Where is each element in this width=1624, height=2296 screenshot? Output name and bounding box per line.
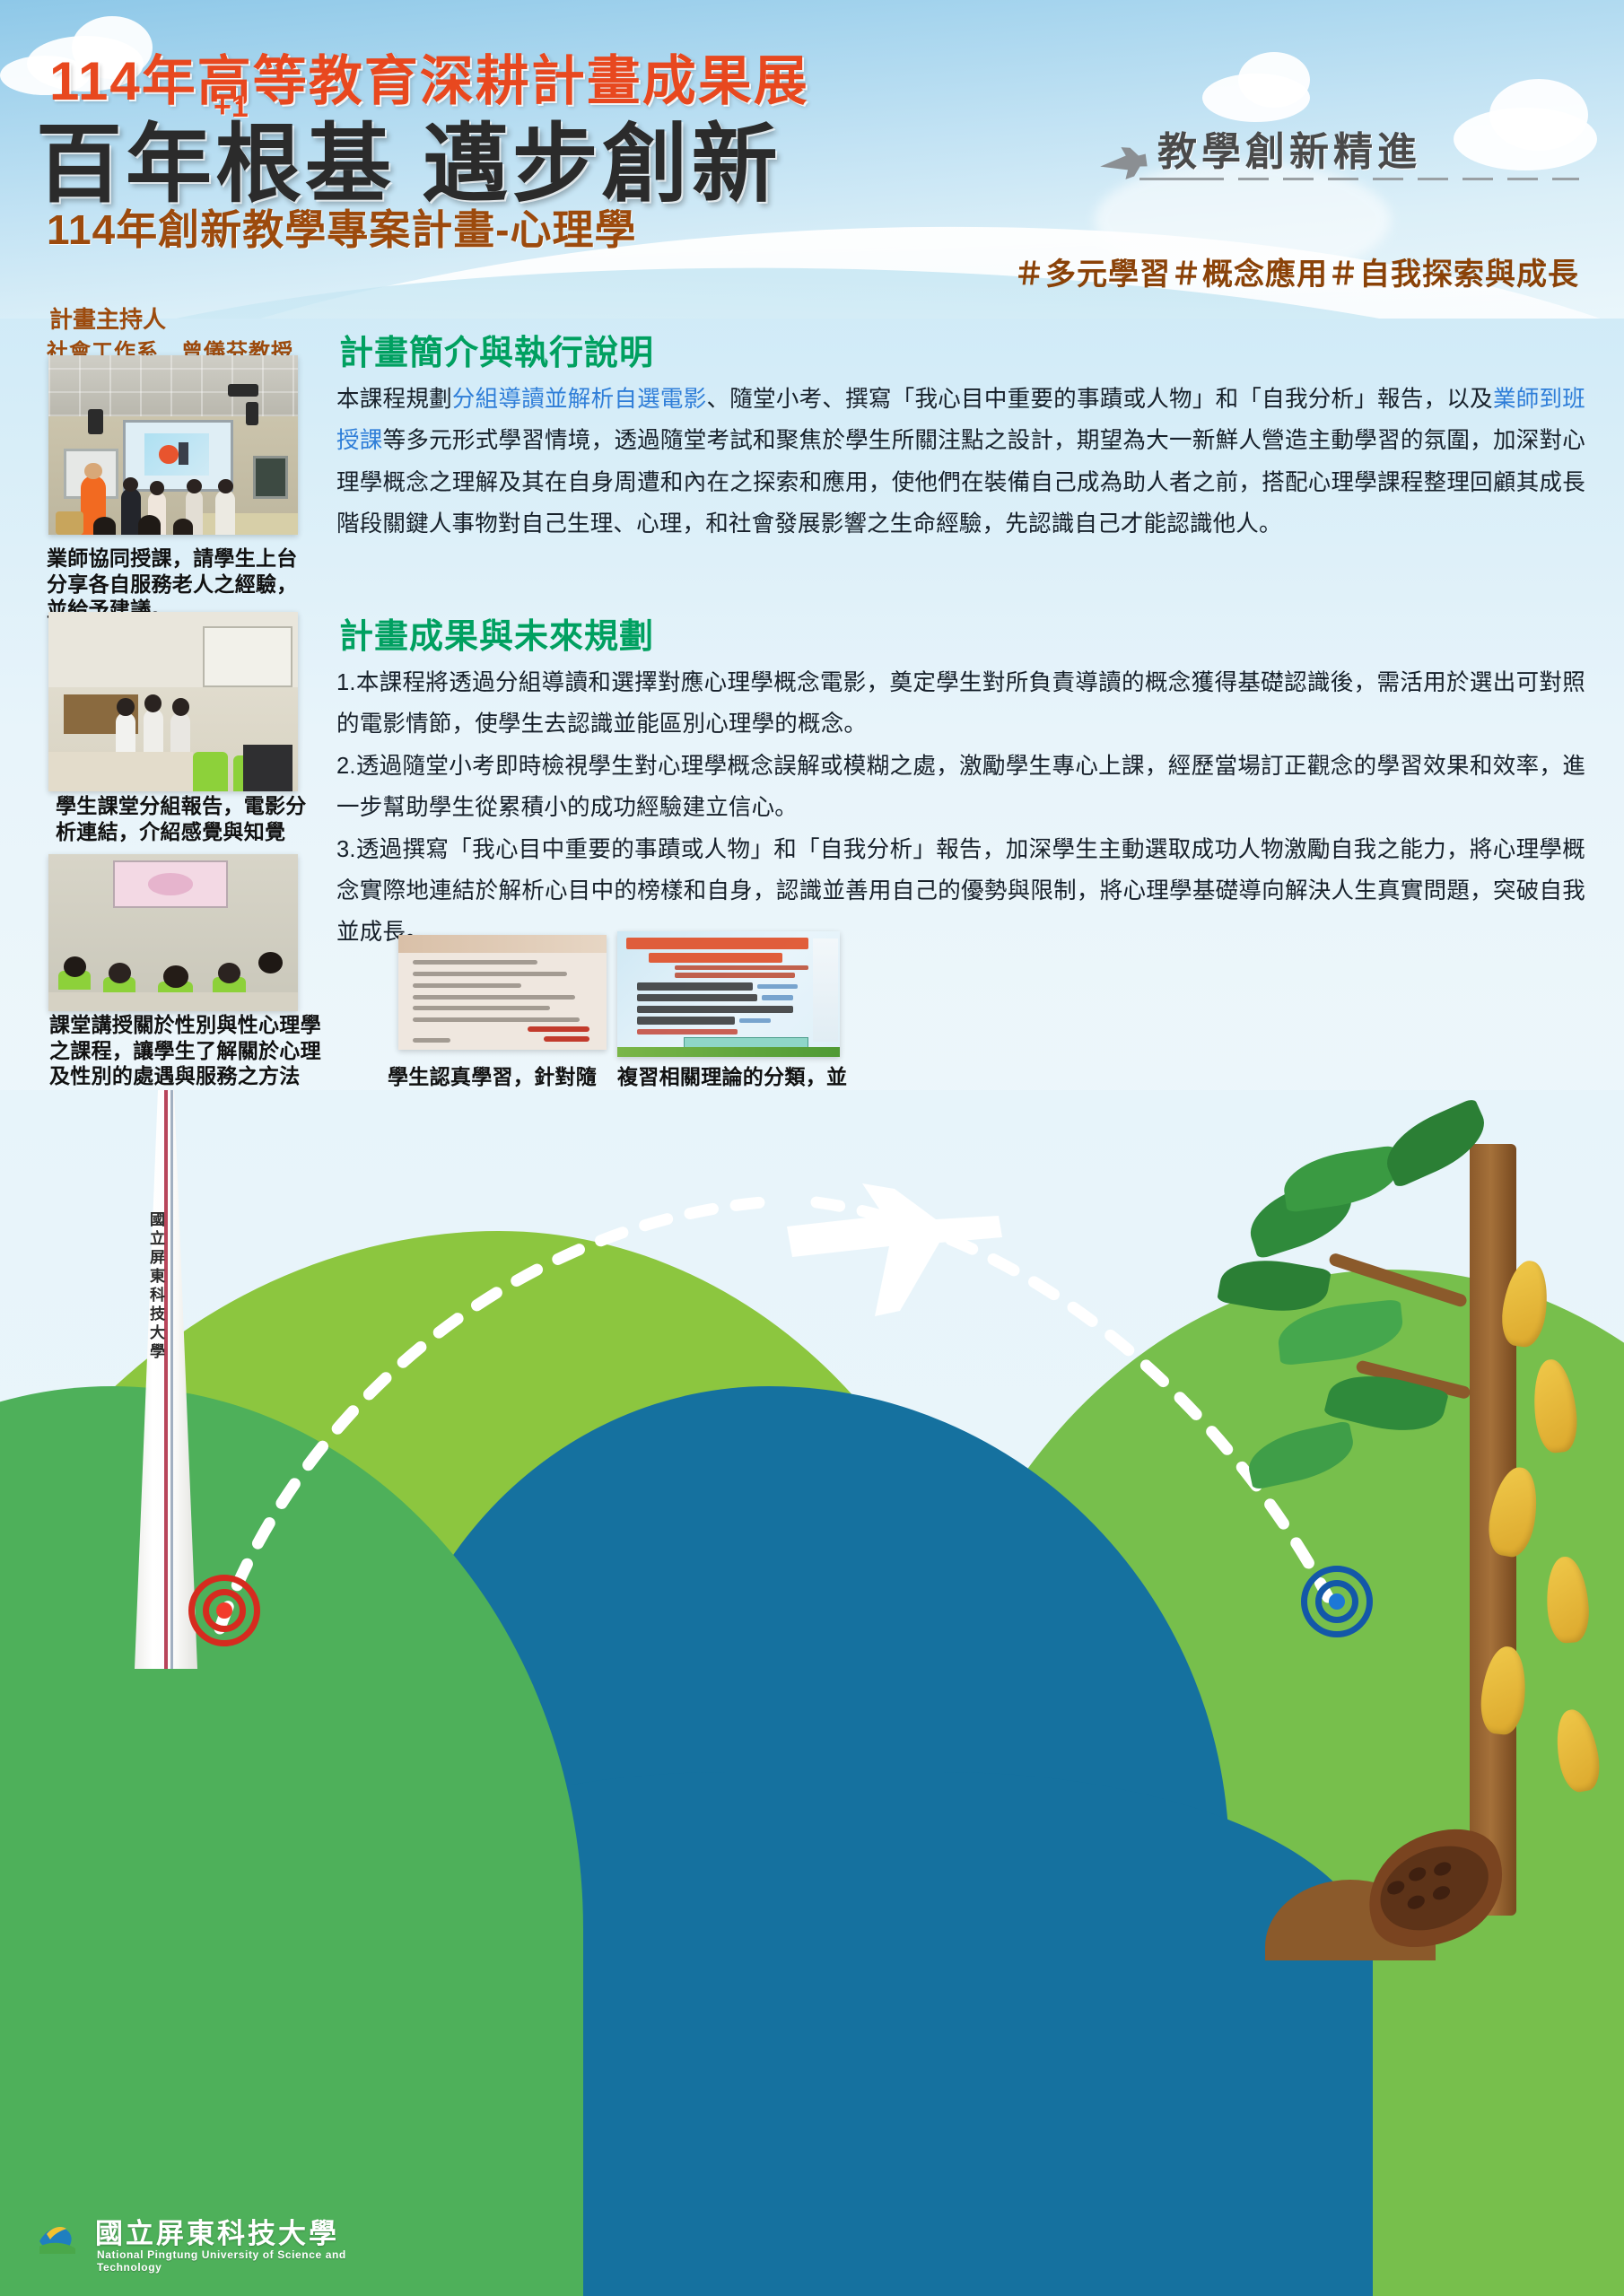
category-badge-label: 教學創新精進	[1157, 119, 1421, 177]
plus-one-superscript: +1	[214, 90, 249, 125]
student-homework-correction-photo	[398, 935, 607, 1050]
section-body-results: 1.本課程將透過分組導讀和選擇對應心理學概念電影，奠定學生對所負責導讀的概念獲得…	[336, 662, 1585, 954]
body-text-run: 2.透過隨堂小考即時檢視學生對心理學概念誤解或模糊之處，激勵學生專心上課，經歷當…	[336, 754, 1585, 820]
highlighted-text: 分組導讀並解析自選電影	[452, 387, 707, 412]
npust-emblem-icon	[34, 2211, 86, 2263]
classroom-industry-teacher-photo	[48, 355, 298, 535]
body-text-run: 本課程規劃	[336, 387, 452, 412]
gender-psychology-lecture-photo	[48, 854, 298, 1011]
bottom-illustration: 國立屏東科技大學	[0, 1090, 1624, 2296]
paragraph: 2.透過隨堂小考即時檢視學生對心理學概念誤解或模糊之處，激勵學生專心上課，經歷當…	[336, 746, 1585, 829]
body-text-run: 、隨堂小考、撰寫「我心目中重要的事蹟或人物」和「自我分析」報告，以及	[706, 387, 1492, 412]
photo-caption: 學生課堂分組報告，電影分析連結，介紹感覺與知覺	[56, 793, 325, 844]
header-dash-line	[1148, 178, 1579, 180]
airplane-icon	[776, 1180, 1009, 1332]
student-group-report-photo	[48, 612, 298, 791]
poster-root: 114年高等教育深耕計畫成果展 百年根基 邁步創新 +1 教學創新精進 114年…	[0, 0, 1624, 2296]
section-title-intro: 計畫簡介與執行說明	[339, 325, 654, 374]
hashtag-list: ＃多元學習＃概念應用＃自我探索與成長	[1014, 249, 1579, 293]
paragraph: 1.本課程將透過分組導讀和選擇對應心理學概念電影，奠定學生對所負責導讀的概念獲得…	[336, 662, 1585, 746]
paragraph: 本課程規劃分組導讀並解析自選電影、隨堂小考、撰寫「我心目中重要的事蹟或人物」和「…	[336, 379, 1585, 546]
cloud-icon	[1489, 79, 1588, 151]
section-title-results: 計畫成果與未來規劃	[339, 608, 654, 658]
footer-logo-name-cn: 國立屏東科技大學	[95, 2211, 339, 2251]
footer-logo: 國立屏東科技大學 National Pingtung University of…	[34, 2198, 357, 2279]
photo-caption: 課堂講授關於性別與性心理學之課程，讓學生了解關於心理及性別的處遇與服務之方法	[49, 1012, 327, 1089]
body-text-run: 1.本課程將透過分組導讀和選擇對應心理學概念電影，奠定學生對所負責導讀的概念獲得…	[336, 670, 1585, 737]
target-icon	[188, 1575, 260, 1646]
body-text-run: 等多元形式學習情境，透過隨堂考試和聚焦於學生所關注點之設計，期望為大一新鮮人營造…	[336, 428, 1585, 537]
page-title: 114年創新教學專案計畫-心理學	[47, 197, 637, 257]
cloud-icon	[1238, 52, 1310, 108]
airplane-icon	[1093, 131, 1154, 196]
section-body-intro: 本課程規劃分組導讀並解析自選電影、隨堂小考、撰寫「我心目中重要的事蹟或人物」和「…	[336, 379, 1585, 546]
classical-conditioning-slide-photo	[617, 931, 840, 1057]
footer-logo-name-en: National Pingtung University of Science …	[97, 2248, 357, 2274]
body-text-run: 3.透過撰寫「我心目中重要的事蹟或人物」和「自我分析」報告，加深學生主動選取成功…	[336, 837, 1585, 946]
cocoa-tree-icon	[1122, 1090, 1624, 2077]
host-label: 計畫主持人	[49, 301, 166, 335]
photo-caption: 業師協同授課，請學生上台分享各自服務老人之經驗，並給予建議。	[47, 546, 316, 623]
